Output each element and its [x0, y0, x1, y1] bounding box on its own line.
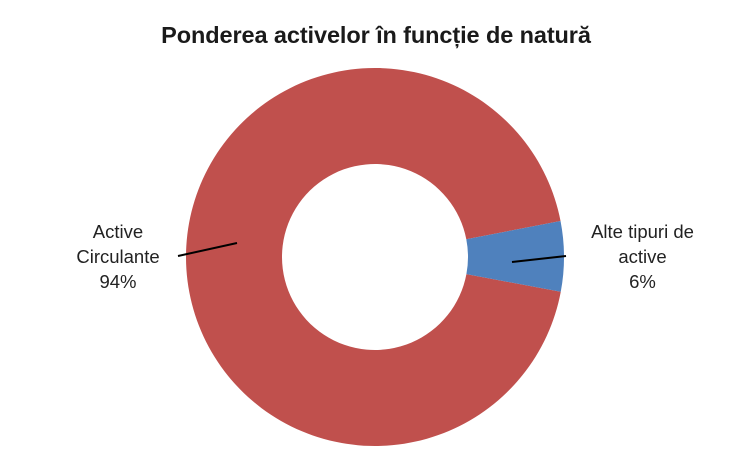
data-label-left-line1: Active — [58, 219, 178, 244]
data-label-right-line1: Alte tipuri de — [570, 219, 715, 244]
data-label-right-value: 6% — [570, 269, 715, 294]
data-label-left-line2: Circulante — [58, 244, 178, 269]
data-label-active-circulante: Active Circulante 94% — [58, 219, 178, 294]
donut-chart-container: Ponderea activelor în funcție de natură … — [0, 0, 752, 452]
data-label-alte-tipuri-de-active: Alte tipuri de active 6% — [570, 219, 715, 294]
data-label-left-value: 94% — [58, 269, 178, 294]
data-label-right-line2: active — [570, 244, 715, 269]
